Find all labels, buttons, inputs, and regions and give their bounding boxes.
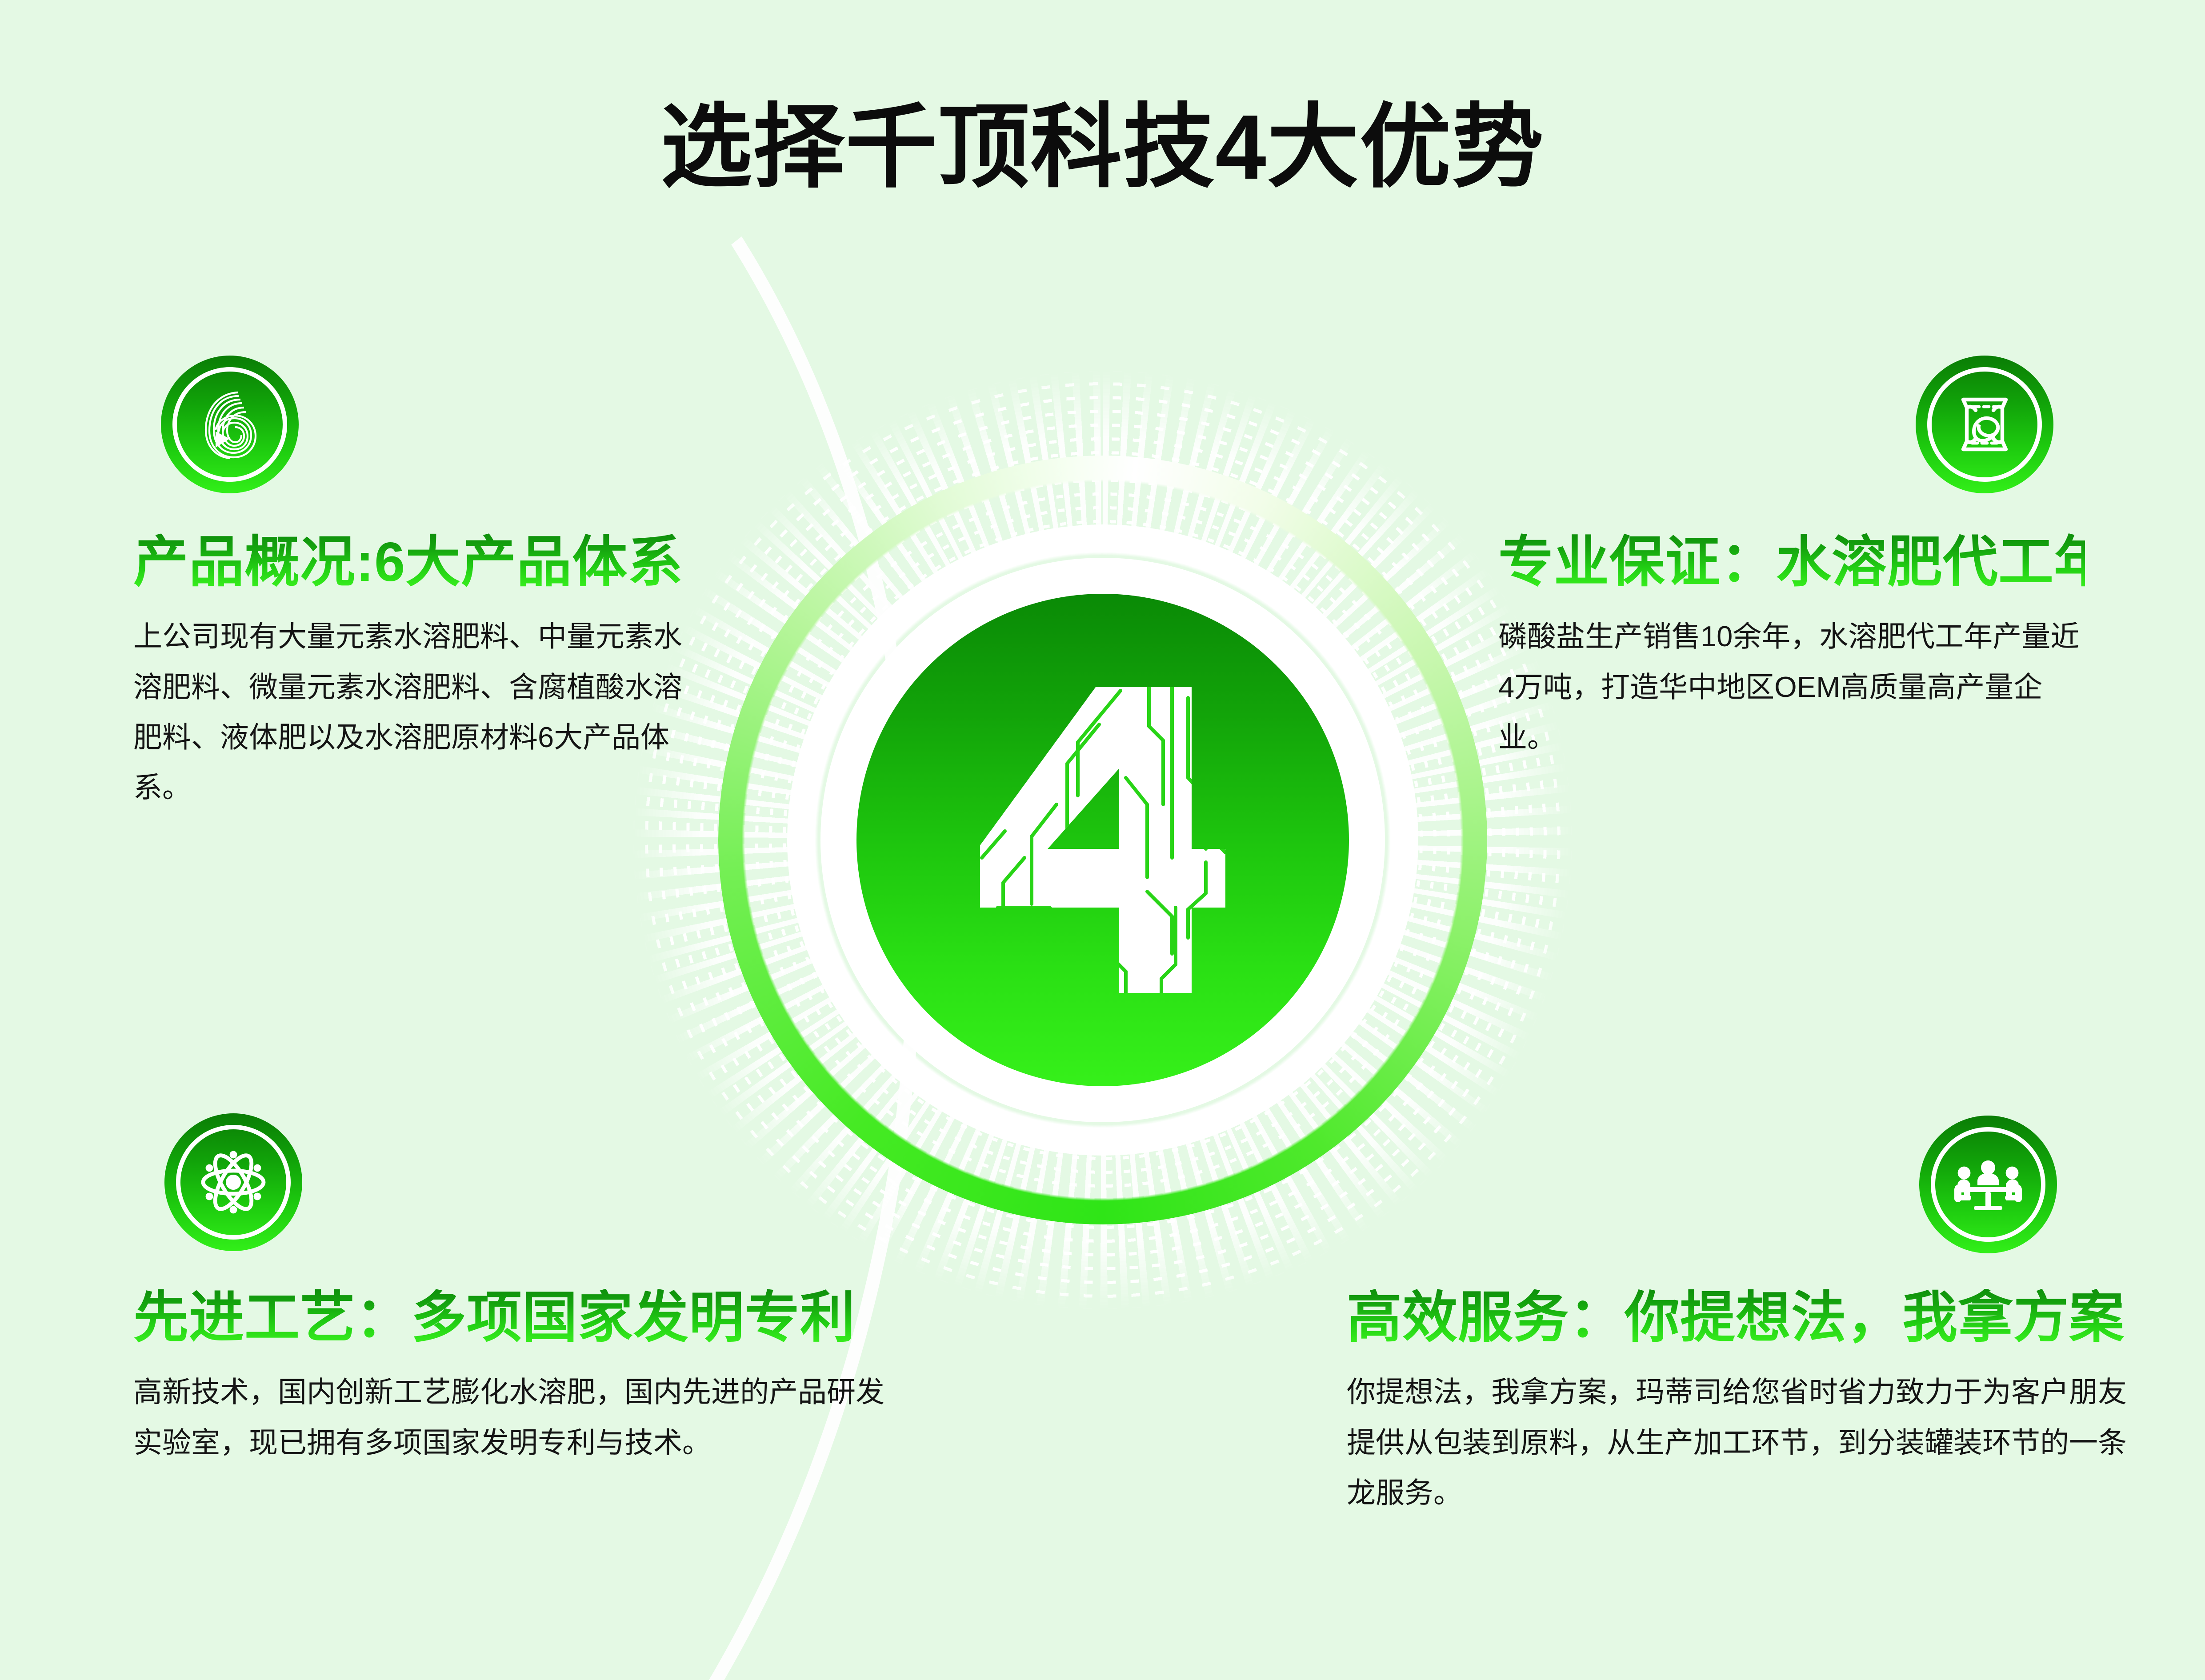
poster-canvas: 选择千顶科技4大优势 xyxy=(0,0,2205,1680)
meeting-table-people-icon xyxy=(1944,1140,2033,1229)
fertilizer-bag-icon xyxy=(1940,380,2029,469)
badge-top-left xyxy=(161,356,299,493)
center-medallion xyxy=(632,369,1574,1311)
advantage-heading: 先进工艺：多项国家发明专利 xyxy=(133,1289,889,1347)
advantage-body: 上公司现有大量元素水溶肥料、中量元素水溶肥料、微量元素水溶肥料、含腐植酸水溶肥料… xyxy=(133,611,689,812)
badge-bottom-left xyxy=(164,1113,302,1251)
page-title: 选择千顶科技4大优势 xyxy=(0,101,2205,193)
advantage-heading: 产品概况:6大产品体系 xyxy=(133,533,689,592)
advantage-heading: 专业保证：水溶肥代工年产量近4万吨 xyxy=(1498,533,2085,592)
center-green-disc xyxy=(856,594,1349,1086)
number-six-badge-icon xyxy=(185,380,274,469)
advantage-block-top-right: 专业保证：水溶肥代工年产量近4万吨 磷酸盐生产销售10余年，水溶肥代工年产量近4… xyxy=(1498,533,2085,762)
atom-icon xyxy=(189,1138,278,1227)
advantage-block-bottom-right: 高效服务：你提想法，我拿方案 你提想法，我拿方案，玛蒂司给您省时省力致力于为客户… xyxy=(1347,1289,2129,1518)
advantage-heading: 高效服务：你提想法，我拿方案 xyxy=(1347,1289,2129,1347)
advantage-block-top-left: 产品概况:6大产品体系 上公司现有大量元素水溶肥料、中量元素水溶肥料、微量元素水… xyxy=(133,533,689,812)
center-number-four-icon xyxy=(943,671,1263,1009)
badge-bottom-right xyxy=(1919,1116,2057,1253)
advantage-block-bottom-left: 先进工艺：多项国家发明专利 高新技术，国内创新工艺膨化水溶肥，国内先进的产品研发… xyxy=(133,1289,889,1468)
advantage-body: 高新技术，国内创新工艺膨化水溶肥，国内先进的产品研发实验室，现已拥有多项国家发明… xyxy=(133,1367,889,1467)
advantage-body: 你提想法，我拿方案，玛蒂司给您省时省力致力于为客户朋友提供从包装到原料，从生产加… xyxy=(1347,1367,2129,1517)
advantage-body: 磷酸盐生产销售10余年，水溶肥代工年产量近4万吨，打造华中地区OEM高质量高产量… xyxy=(1498,611,2085,762)
badge-top-right xyxy=(1916,356,2053,493)
